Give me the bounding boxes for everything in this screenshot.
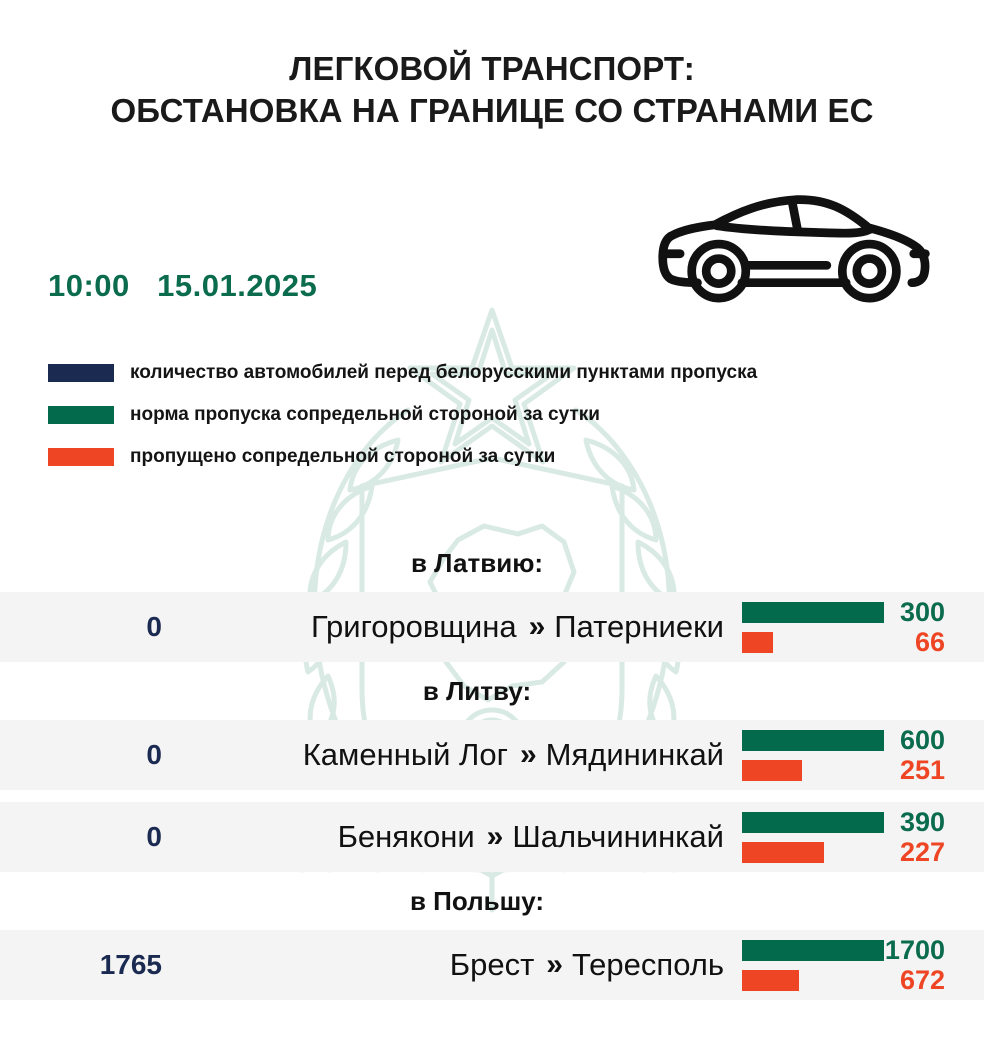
value-norm: 600 <box>884 725 945 755</box>
legend-swatch-green <box>48 406 114 424</box>
row-separator <box>0 790 984 802</box>
checkpoint-from: Брест <box>450 947 535 983</box>
legend-label-queue: количество автомобилей перед белорусским… <box>130 362 757 384</box>
bar-passed <box>742 632 773 653</box>
route: Каменный Лог » Мядининкай <box>170 737 734 773</box>
chevron-right-icon: » <box>546 950 560 980</box>
route: Бенякони » Шальчининкай <box>170 819 734 855</box>
page-title: ЛЕГКОВОЙ ТРАНСПОРТ: ОБСТАНОВКА НА ГРАНИЦ… <box>0 0 984 132</box>
bar-passed <box>742 760 802 781</box>
bar-norm <box>742 812 884 833</box>
bars <box>734 730 884 781</box>
country-heading-poland: в Польшу: <box>0 872 984 930</box>
route: Григоровщина » Патерниеки <box>170 609 734 645</box>
queue-count: 1765 <box>0 949 170 981</box>
legend: количество автомобилей перед белорусским… <box>48 352 757 478</box>
values: 1700 672 <box>884 935 984 995</box>
checkpoint-to: Шальчининкай <box>512 819 724 855</box>
checkpoint-from: Каменный Лог <box>303 737 508 773</box>
legend-item-queue: количество автомобилей перед белорусским… <box>48 352 757 394</box>
chevron-right-icon: » <box>529 612 543 642</box>
legend-swatch-red <box>48 448 114 466</box>
value-passed: 227 <box>884 837 945 867</box>
queue-count: 0 <box>0 821 170 853</box>
country-heading-latvia: в Латвию: <box>0 534 984 592</box>
bar-norm <box>742 730 884 751</box>
legend-swatch-navy <box>48 364 114 382</box>
checkpoint-from: Бенякони <box>338 819 475 855</box>
values: 390 227 <box>884 807 984 867</box>
table-row: 1765 Брест » Тересполь 1700 672 <box>0 930 984 1000</box>
value-passed: 672 <box>884 965 945 995</box>
value-passed: 251 <box>884 755 945 785</box>
bar-norm <box>742 602 884 623</box>
table-row: 0 Григоровщина » Патерниеки 300 66 <box>0 592 984 662</box>
bars <box>734 602 884 653</box>
values: 300 66 <box>884 597 984 657</box>
legend-item-passed: пропущено сопредельной стороной за сутки <box>48 436 757 478</box>
infographic-page: ПАГРАНІЧНАЯ СЛУЖБА РЭСПУБЛІКІ БЕЛАРУСЬ Л… <box>0 0 984 1044</box>
bar-passed <box>742 842 824 863</box>
bars <box>734 812 884 863</box>
border-crossings-table: в Латвию: 0 Григоровщина » Патерниеки 30… <box>0 534 984 1000</box>
value-norm: 390 <box>884 807 945 837</box>
queue-count: 0 <box>0 611 170 643</box>
legend-item-norm: норма пропуска сопредельной стороной за … <box>48 394 757 436</box>
value-norm: 1700 <box>884 935 945 965</box>
bars <box>734 940 884 991</box>
values: 600 251 <box>884 725 984 785</box>
bar-norm <box>742 940 884 961</box>
value-passed: 66 <box>884 627 945 657</box>
chevron-right-icon: » <box>520 740 534 770</box>
timestamp: 10:00 15.01.2025 <box>48 268 317 304</box>
legend-label-passed: пропущено сопредельной стороной за сутки <box>130 446 555 468</box>
checkpoint-to: Мядининкай <box>546 737 724 773</box>
value-norm: 300 <box>884 597 945 627</box>
country-heading-lithuania: в Литву: <box>0 662 984 720</box>
checkpoint-to: Тересполь <box>572 947 724 983</box>
table-row: 0 Бенякони » Шальчининкай 390 227 <box>0 802 984 872</box>
table-row: 0 Каменный Лог » Мядининкай 600 251 <box>0 720 984 790</box>
checkpoint-to: Патерниеки <box>554 609 724 645</box>
bar-passed <box>742 970 799 991</box>
checkpoint-from: Григоровщина <box>311 609 517 645</box>
chevron-right-icon: » <box>487 822 501 852</box>
queue-count: 0 <box>0 739 170 771</box>
legend-label-norm: норма пропуска сопредельной стороной за … <box>130 404 600 426</box>
route: Брест » Тересполь <box>170 947 734 983</box>
car-icon <box>655 186 935 306</box>
